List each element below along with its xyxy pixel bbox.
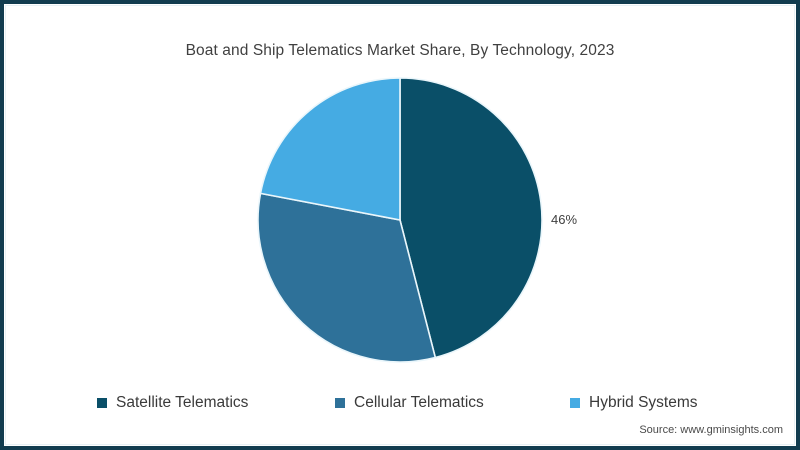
pie-chart-svg	[255, 75, 545, 365]
pie-slice-label-satellite: 46%	[551, 212, 577, 227]
legend-swatch-icon	[335, 398, 345, 408]
chart-page: Boat and Ship Telematics Market Share, B…	[0, 0, 800, 450]
legend-item-label: Cellular Telematics	[354, 394, 484, 412]
pie-chart	[255, 75, 545, 365]
legend-swatch-icon	[97, 398, 107, 408]
legend-item-cellular-telematics[interactable]: Cellular Telematics	[335, 392, 484, 414]
legend-item-satellite-telematics[interactable]: Satellite Telematics	[97, 392, 248, 414]
legend-swatch-icon	[570, 398, 580, 408]
legend-item-hybrid-systems[interactable]: Hybrid Systems	[570, 392, 698, 414]
source-attribution: Source: www.gminsights.com	[639, 424, 783, 436]
chart-legend: Satellite Telematics Cellular Telematics…	[0, 392, 800, 414]
legend-item-label: Satellite Telematics	[116, 394, 248, 412]
page-title: Boat and Ship Telematics Market Share, B…	[0, 42, 800, 60]
legend-item-label: Hybrid Systems	[589, 394, 698, 412]
